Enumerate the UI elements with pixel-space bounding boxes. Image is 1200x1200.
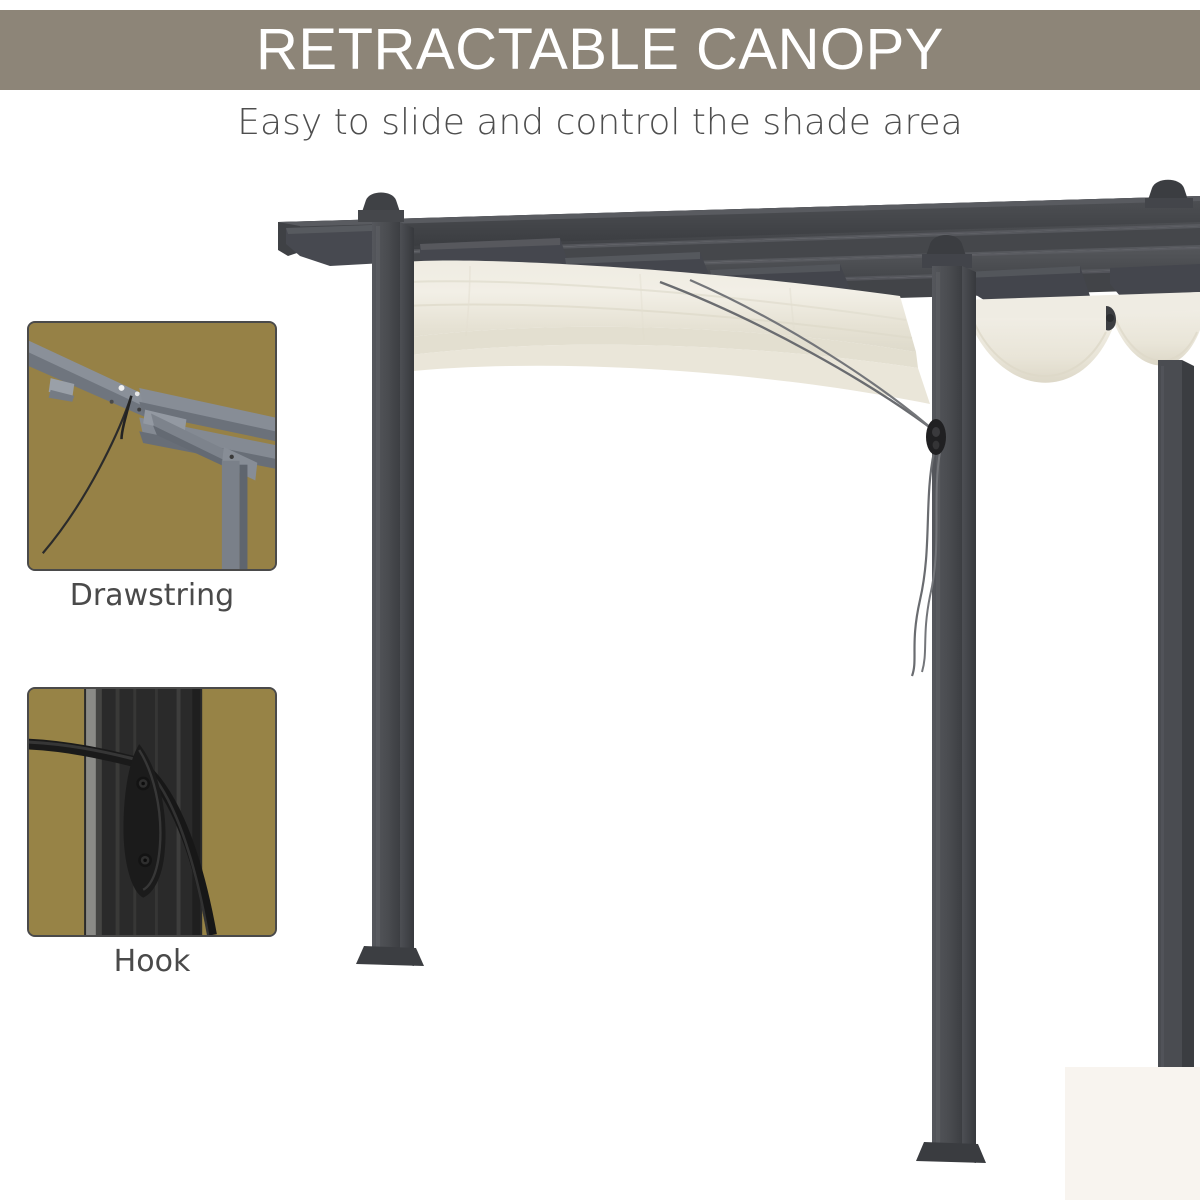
drawstring-detail-photo [29, 323, 275, 569]
retracted-canopy-bundle [402, 260, 930, 404]
center-post [916, 235, 986, 1163]
front-main-beam [278, 196, 1200, 256]
roof-slats [283, 196, 1200, 312]
corner-watermark-plate [1065, 1067, 1200, 1200]
drawstring-cords [660, 280, 940, 676]
product-marketing-image: RETRACTABLE CANOPY Easy to slide and con… [0, 0, 1200, 1200]
header-banner: RETRACTABLE CANOPY [0, 10, 1200, 90]
right-post-finial-cap [1145, 180, 1193, 208]
inset-panel-drawstring [27, 321, 277, 571]
inset-panel-hook [27, 687, 277, 937]
rafter-end-tails [286, 224, 1200, 312]
post-hook-cleat [926, 419, 946, 455]
hook-detail-photo [29, 689, 275, 935]
inset-caption-drawstring: Drawstring [27, 578, 277, 614]
page-subtitle: Easy to slide and control the shade area [0, 101, 1200, 145]
draped-canopy-swags [950, 292, 1200, 383]
left-post [356, 193, 424, 967]
inset-caption-hook: Hook [27, 944, 277, 980]
page-title: RETRACTABLE CANOPY [256, 21, 944, 79]
